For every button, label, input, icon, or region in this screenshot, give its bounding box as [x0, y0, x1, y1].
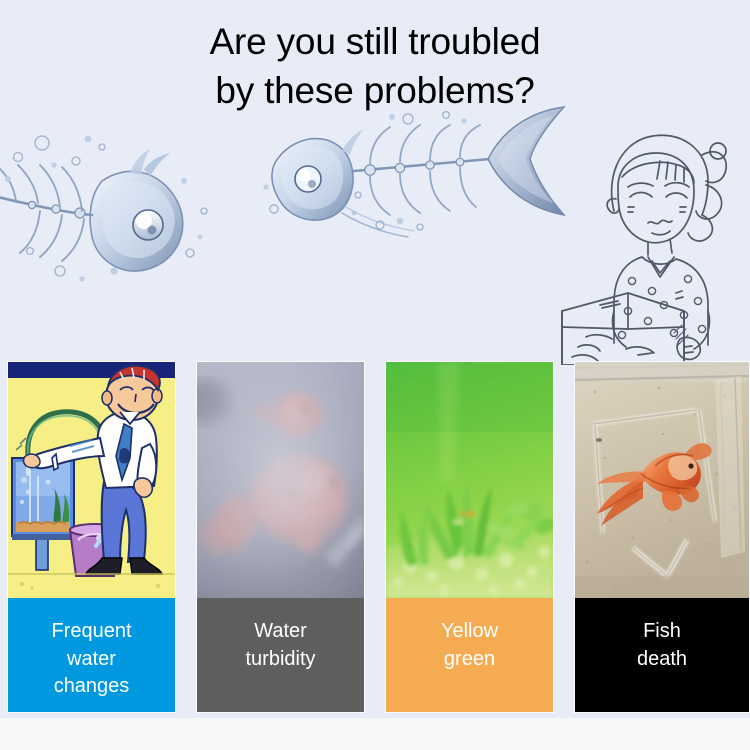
worried-girl-sketch-icon	[556, 115, 750, 365]
problem-card-fish-death[interactable]: Fish death	[575, 362, 749, 712]
bottom-strip	[0, 718, 750, 750]
problem-card-label: Water turbidity	[197, 598, 364, 712]
page-title: Are you still troubled by these problems…	[0, 18, 750, 116]
problem-card-label: Fish death	[575, 598, 749, 712]
problem-card-label: Yellow green	[386, 598, 553, 712]
problem-card-label: Frequent water changes	[8, 598, 175, 712]
water-fish-skeleton-right-icon	[258, 101, 570, 251]
problem-card-frequent-water-changes[interactable]: Frequent water changes	[8, 362, 175, 712]
man-siphoning-aquarium-illustration	[8, 362, 175, 598]
green-algae-tank-photo	[386, 362, 553, 598]
card-spacer	[553, 362, 575, 712]
dead-goldfish-photo	[575, 362, 749, 598]
problem-card-row: Frequent water changes	[8, 362, 742, 712]
card-spacer	[364, 362, 386, 712]
poster-root: Are you still troubled by these problems…	[0, 0, 750, 750]
problem-card-yellow-green[interactable]: Yellow green	[386, 362, 553, 712]
problem-card-water-turbidity[interactable]: Water turbidity	[197, 362, 364, 712]
cloudy-water-goldfish-photo	[197, 362, 364, 598]
hero-artwork	[0, 95, 750, 365]
card-spacer	[175, 362, 197, 712]
water-fish-skeleton-left-icon	[0, 103, 294, 293]
